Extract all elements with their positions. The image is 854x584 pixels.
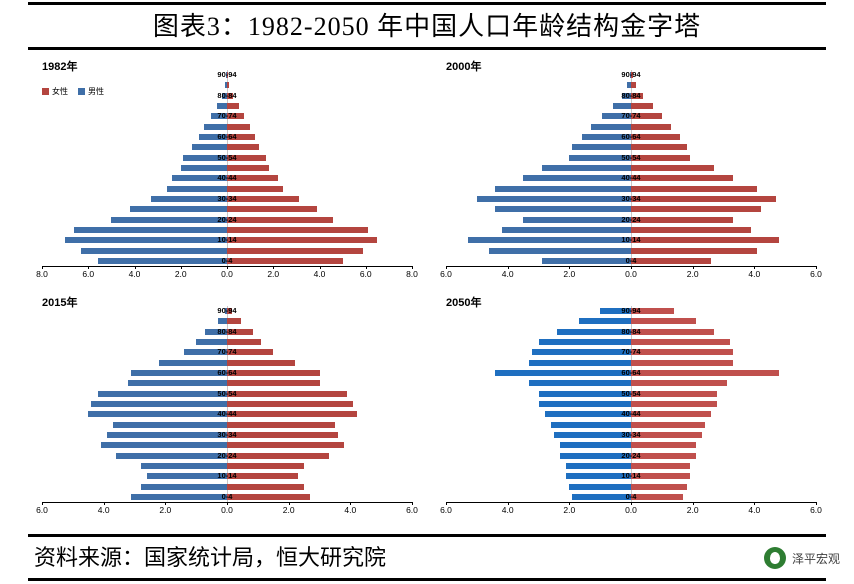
pyramid-bar [579,318,631,324]
panel-title: 1982年 [42,58,77,74]
age-group-label: 50-54 [614,389,648,398]
age-group-label: 90-94 [614,70,648,79]
x-tick-mark [693,266,694,269]
age-group-label: 10-14 [614,471,648,480]
age-group-label: 70-74 [614,347,648,356]
source-rule-bottom [28,578,826,581]
pyramid-bar [631,380,727,386]
age-group-label: 60-64 [210,132,244,141]
x-tick-mark [42,266,43,269]
x-tick-mark [754,266,755,269]
x-tick-mark [631,502,632,505]
x-tick-mark [366,266,367,269]
pyramid-bar [631,248,757,254]
x-tick-label: 4.0 [122,269,148,279]
age-group-label: 20-24 [614,451,648,460]
pyramid-bar [217,103,227,109]
pyramid-bar [227,422,335,428]
x-tick-mark [446,502,447,505]
age-group-label: 70-74 [210,111,244,120]
age-group-label: 40-44 [210,409,244,418]
x-tick-mark [816,266,817,269]
age-group-label: 0-4 [614,256,648,265]
legend-label-female: 女性 [52,86,68,97]
x-tick-label: 8.0 [399,269,425,279]
age-group-label: 10-14 [210,471,244,480]
pyramid-bar [227,339,261,345]
pyramid-bar [560,442,631,448]
pyramid-bar [551,422,631,428]
pyramid-bar [74,227,227,233]
pyramid-bar [181,165,227,171]
x-tick-label: 2.0 [276,505,302,515]
x-tick-mark [135,266,136,269]
legend-label-male: 男性 [88,86,104,97]
x-tick-mark [693,502,694,505]
x-tick-label: 2.0 [168,269,194,279]
x-tick-mark [754,502,755,505]
pyramid-bar [631,206,761,212]
x-tick-mark [289,502,290,505]
pyramid-bar [631,463,690,469]
pyramid-bar [572,144,631,150]
x-tick-label: 2.0 [680,269,706,279]
pyramid-bar [529,360,631,366]
pyramid-bar [502,227,632,233]
pyramid-bar [65,237,227,243]
pyramid-bar [591,124,631,130]
age-group-label: 40-44 [614,409,648,418]
x-tick-mark [320,266,321,269]
age-group-label: 10-14 [614,235,648,244]
age-group-label: 70-74 [210,347,244,356]
age-group-label: 50-54 [210,389,244,398]
pyramid-bar [204,124,227,130]
x-tick-mark [227,502,228,505]
watermark: 泽平宏观 [764,547,840,569]
pyramid-bar [227,391,347,397]
pyramid-bar [631,370,779,376]
pyramid-bar [631,82,636,88]
age-group-label: 70-74 [614,111,648,120]
pyramid-bar [227,186,283,192]
age-group-label: 40-44 [614,173,648,182]
x-tick-label: 2.0 [260,269,286,279]
pyramid-bar [196,339,227,345]
pyramid-bar [631,196,776,202]
x-tick-label: 6.0 [29,505,55,515]
age-group-label: 80-84 [614,327,648,336]
pyramid-bar [495,370,631,376]
pyramid-bar [631,227,751,233]
pyramid-bar [631,318,696,324]
pyramid-bar [101,442,227,448]
age-group-label: 10-14 [210,235,244,244]
x-tick-mark [350,502,351,505]
x-tick-mark [412,502,413,505]
pyramid-bar [613,103,632,109]
x-tick-label: 2.0 [152,505,178,515]
x-tick-label: 4.0 [91,505,117,515]
x-tick-label: 6.0 [433,269,459,279]
x-tick-label: 6.0 [75,269,101,279]
pyramid-bar [98,391,228,397]
pyramid-bar [631,360,733,366]
pyramid-bar [227,411,357,417]
x-tick-mark [104,502,105,505]
age-group-label: 90-94 [210,306,244,315]
x-tick-label: 4.0 [741,269,767,279]
pyramid-bar [81,248,227,254]
x-tick-label: 6.0 [803,269,829,279]
chart-page: 图表3：1982-2050 年中国人口年龄结构金字塔 1982年0-410-14… [0,0,854,584]
x-tick-label: 4.0 [307,269,333,279]
leaf-logo-icon [764,547,786,569]
x-tick-label: 6.0 [353,269,379,279]
x-tick-label: 6.0 [399,505,425,515]
pyramid-bar [141,484,227,490]
pyramid-bar [495,186,631,192]
pyramid-bar [227,258,343,264]
age-group-label: 60-64 [210,368,244,377]
x-tick-label: 4.0 [495,505,521,515]
x-tick-mark [412,266,413,269]
pyramid-panel-1982年: 1982年0-410-1420-2430-3440-4450-5460-6470… [28,56,426,288]
x-tick-mark [42,502,43,505]
age-group-label: 30-34 [614,194,648,203]
legend-item-female: 女性 [42,86,68,97]
age-group-label: 30-34 [210,430,244,439]
age-group-label: 80-84 [614,91,648,100]
pyramid-bar [631,165,714,171]
pyramid-bar [128,380,227,386]
watermark-label: 泽平宏观 [792,550,840,567]
pyramid-bar [468,237,631,243]
pyramid-bar [192,144,227,150]
x-tick-label: 0.0 [214,505,240,515]
x-tick-mark [227,266,228,269]
age-group-label: 90-94 [210,70,244,79]
pyramid-bar [631,103,653,109]
x-tick-label: 4.0 [741,505,767,515]
age-group-label: 20-24 [210,451,244,460]
x-tick-mark [816,502,817,505]
legend-swatch-female [42,88,49,95]
title-block: 图表3：1982-2050 年中国人口年龄结构金字塔 [0,0,854,52]
pyramid-bar [167,186,227,192]
pyramid-bar [631,144,687,150]
age-group-label: 20-24 [210,215,244,224]
pyramid-bar [631,484,687,490]
pyramid-bar [227,380,320,386]
age-group-label: 50-54 [614,153,648,162]
pyramid-bar [227,401,353,407]
panel-title: 2050年 [446,294,481,310]
pyramid-bar [631,237,779,243]
pyramid-bar [631,401,717,407]
title-rule-bottom [28,47,826,50]
x-tick-mark [569,266,570,269]
pyramid-bar [88,411,227,417]
pyramid-bar [227,124,250,130]
pyramid-bar [227,442,344,448]
pyramid-bar [477,196,631,202]
age-group-label: 90-94 [614,306,648,315]
x-tick-label: 8.0 [29,269,55,279]
pyramid-bar [631,186,757,192]
age-group-label: 0-4 [210,256,244,265]
pyramid-bar [113,422,227,428]
pyramid-bar [539,339,632,345]
pyramid-bar [631,339,730,345]
pyramid-bar [227,103,239,109]
pyramid-bar [631,124,671,130]
pyramid-bar [631,422,705,428]
panel-title: 2000年 [446,58,481,74]
pyramid-bar [107,432,227,438]
age-group-label: 80-84 [210,91,244,100]
panel-title: 2015年 [42,294,77,310]
pyramid-bar [631,442,696,448]
x-tick-mark [88,266,89,269]
title-rule-top [28,2,826,5]
x-tick-label: 6.0 [803,505,829,515]
x-tick-mark [508,502,509,505]
pyramid-bar [227,318,241,324]
pyramid-bar [227,360,295,366]
x-tick-mark [181,266,182,269]
pyramid-bar [227,206,317,212]
pyramid-bar [227,463,304,469]
page-title: 图表3：1982-2050 年中国人口年龄结构金字塔 [0,6,854,43]
x-tick-label: 0.0 [618,269,644,279]
age-group-label: 30-34 [210,194,244,203]
pyramid-bar [98,258,228,264]
legend-item-male: 男性 [78,86,104,97]
pyramid-bar [227,237,377,243]
x-tick-mark [273,266,274,269]
x-tick-label: 6.0 [433,505,459,515]
x-tick-mark [631,266,632,269]
pyramid-bar [141,463,227,469]
x-tick-mark [165,502,166,505]
legend-swatch-male [78,88,85,95]
pyramid-bar [91,401,227,407]
pyramid-bar [227,248,363,254]
pyramid-bar [227,144,259,150]
x-tick-mark [446,266,447,269]
pyramid-panel-2050年: 2050年0-410-1420-2430-3440-4450-5460-6470… [432,292,830,524]
pyramid-bar [227,227,368,233]
age-group-label: 60-64 [614,368,648,377]
source-note: 资料来源：国家统计局，恒大研究院 [34,540,386,572]
age-group-label: 20-24 [614,215,648,224]
age-group-label: 0-4 [210,492,244,501]
age-group-label: 50-54 [210,153,244,162]
pyramid-panel-2000年: 2000年0-410-1420-2430-3440-4450-5460-6470… [432,56,830,288]
x-tick-label: 2.0 [556,505,582,515]
age-group-label: 40-44 [210,173,244,182]
source-rule-top [28,534,826,537]
pyramid-bar [542,165,631,171]
pyramid-bar [227,82,229,88]
age-group-label: 0-4 [614,492,648,501]
x-tick-label: 0.0 [618,505,644,515]
x-tick-mark [569,502,570,505]
pyramid-bar [569,484,631,490]
x-tick-label: 4.0 [495,269,521,279]
chart-legend: 女性男性 [42,86,104,97]
pyramid-bar [495,206,631,212]
x-tick-mark [508,266,509,269]
x-tick-label: 4.0 [337,505,363,515]
pyramid-bar [218,318,227,324]
pyramid-bar [489,248,631,254]
pyramid-bar [539,401,632,407]
x-tick-label: 2.0 [556,269,582,279]
x-tick-label: 2.0 [680,505,706,515]
pyramid-panel-2015年: 2015年0-410-1420-2430-3440-4450-5460-6470… [28,292,426,524]
pyramid-bar [227,165,269,171]
age-group-label: 30-34 [614,430,648,439]
age-group-label: 80-84 [210,327,244,336]
age-group-label: 60-64 [614,132,648,141]
pyramid-bar [227,484,304,490]
pyramid-bar [159,360,227,366]
pyramid-bar [566,463,631,469]
pyramid-bar [529,380,631,386]
pyramid-bar [130,206,227,212]
x-tick-label: 0.0 [214,269,240,279]
